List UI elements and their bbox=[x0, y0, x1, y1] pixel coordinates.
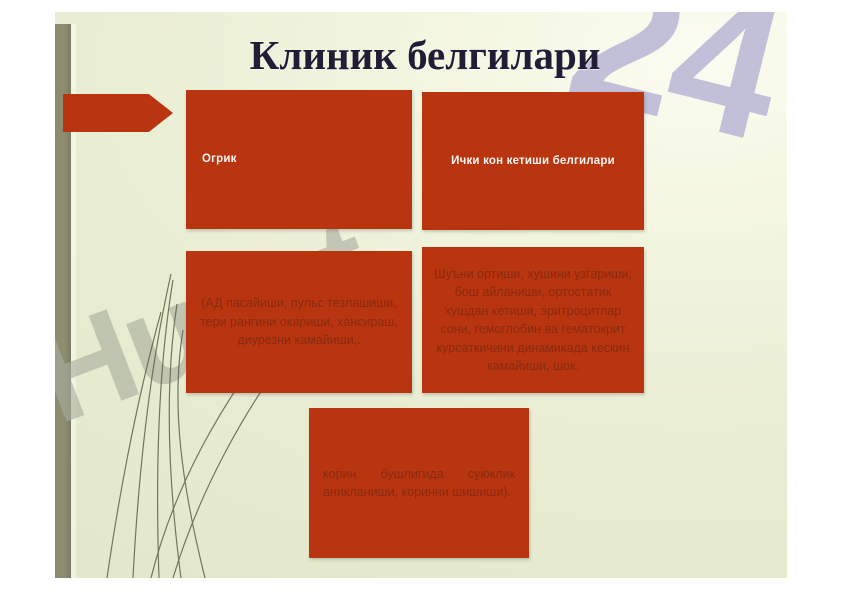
slide-canvas: Hujjat 24 Клиник белгилари Огрик Ички ко… bbox=[55, 12, 787, 578]
content-box-abdominal-fluid-details-label: корин бушлигида суюклик аникланиши, кори… bbox=[323, 465, 515, 502]
content-box-noise-consciousness-details-label: Шуъни ортиши, хушини узгариши, бош айлан… bbox=[432, 265, 634, 376]
red-arrow-banner-icon bbox=[63, 94, 173, 132]
content-box-blood-pressure-details-label: (АД пасайиши, пульс тезлашиши, тери ранг… bbox=[198, 294, 400, 350]
page-title: Клиник белгилари bbox=[145, 34, 705, 77]
content-box-internal-bleeding-signs-label: Ички кон кетиши белгилари bbox=[438, 153, 628, 170]
content-box-noise-consciousness-details[interactable]: Шуъни ортиши, хушини узгариши, бош айлан… bbox=[422, 247, 644, 393]
content-box-internal-bleeding-signs[interactable]: Ички кон кетиши белгилари bbox=[422, 92, 644, 230]
content-box-ogrik[interactable]: Огрик bbox=[186, 90, 412, 229]
content-box-abdominal-fluid-details[interactable]: корин бушлигида суюклик аникланиши, кори… bbox=[309, 408, 529, 558]
content-box-blood-pressure-details[interactable]: (АД пасайиши, пульс тезлашиши, тери ранг… bbox=[186, 251, 412, 393]
content-box-ogrik-label: Огрик bbox=[202, 151, 396, 168]
